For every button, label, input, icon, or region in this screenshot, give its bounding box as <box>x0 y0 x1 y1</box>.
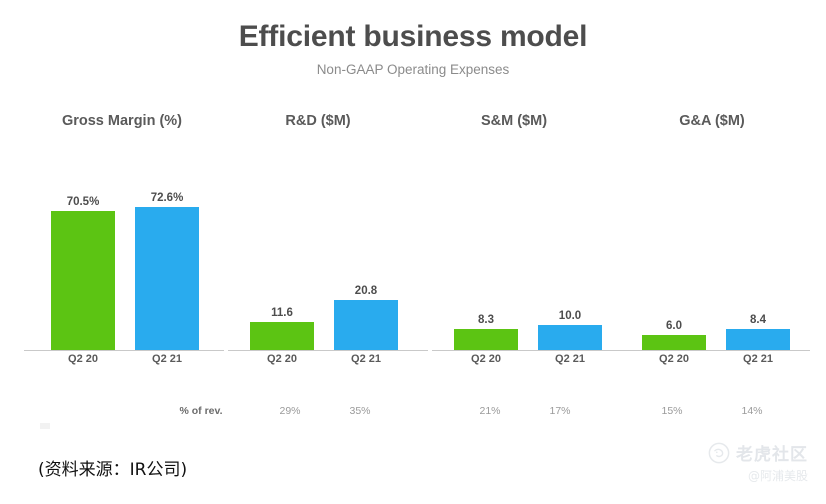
axis-baseline <box>24 350 224 351</box>
bar-value-label: 10.0 <box>518 310 622 322</box>
pct-of-revenue-gna-q2-21: 14% <box>720 405 784 417</box>
bar-value-label: 11.6 <box>230 307 334 319</box>
faint-artifact <box>40 423 50 429</box>
bar-slot-q2-21: 10.0 Q2 21 <box>538 325 602 350</box>
group-header-snm: S&M ($M) <box>404 113 624 129</box>
bar-category-label: Q2 21 <box>314 353 418 365</box>
bar-slot-q2-21: 20.8 Q2 21 <box>334 300 398 350</box>
pct-of-revenue-label: % of rev. <box>166 405 236 417</box>
axis-baseline <box>620 350 810 351</box>
slide-canvas: Efficient business model Non-GAAP Operat… <box>0 0 826 504</box>
page-subtitle: Non-GAAP Operating Expenses <box>0 62 826 77</box>
bar-gross-margin-q2-21[interactable] <box>135 207 199 350</box>
watermark-brand-text: 老虎社区 <box>736 440 808 465</box>
axis-baseline <box>432 350 622 351</box>
bar-value-label: 20.8 <box>314 285 418 297</box>
bar-value-label: 72.6% <box>115 192 219 204</box>
bar-value-label: 8.4 <box>706 314 810 326</box>
bar-slot-q2-21: 72.6% Q2 21 <box>135 207 199 350</box>
bar-snm-q2-20[interactable] <box>454 329 518 350</box>
pct-of-revenue-rnd-q2-21: 35% <box>328 405 392 417</box>
bar-slot-q2-20: 6.0 Q2 20 <box>642 335 706 350</box>
bar-slot-q2-21: 8.4 Q2 21 <box>726 329 790 350</box>
tiger-circle-icon <box>708 442 730 464</box>
chart-group-gna: 6.0 Q2 20 8.4 Q2 21 <box>620 150 810 365</box>
bar-gna-q2-20[interactable] <box>642 335 706 350</box>
watermark: 老虎社区 @阿浦美股 <box>708 440 808 484</box>
bar-category-label: Q2 21 <box>115 353 219 365</box>
group-header-gross-margin: Gross Margin (%) <box>12 113 232 129</box>
chart-group-rnd: 11.6 Q2 20 20.8 Q2 21 <box>228 150 428 365</box>
bar-gna-q2-21[interactable] <box>726 329 790 350</box>
bar-rnd-q2-21[interactable] <box>334 300 398 350</box>
bar-category-label: Q2 21 <box>518 353 622 365</box>
watermark-handle-text: @阿浦美股 <box>708 467 808 484</box>
source-note: (资料来源：IR公司) <box>38 455 187 480</box>
bar-slot-q2-20: 8.3 Q2 20 <box>454 329 518 350</box>
bar-gross-margin-q2-20[interactable] <box>51 211 115 350</box>
bar-slot-q2-20: 70.5% Q2 20 <box>51 211 115 350</box>
bar-slot-q2-20: 11.6 Q2 20 <box>250 322 314 350</box>
pct-of-revenue-snm-q2-21: 17% <box>528 405 592 417</box>
page-title: Efficient business model <box>0 20 826 54</box>
group-header-rnd: R&D ($M) <box>208 113 428 129</box>
chart-group-gross-margin: 70.5% Q2 20 72.6% Q2 21 <box>24 150 224 365</box>
pct-of-revenue-rnd-q2-20: 29% <box>258 405 322 417</box>
pct-of-revenue-snm-q2-20: 21% <box>458 405 522 417</box>
chart-group-snm: 8.3 Q2 20 10.0 Q2 21 <box>432 150 622 365</box>
bar-category-label: Q2 21 <box>706 353 810 365</box>
watermark-brand-row: 老虎社区 <box>708 440 808 465</box>
bar-rnd-q2-20[interactable] <box>250 322 314 350</box>
group-header-gna: G&A ($M) <box>602 113 822 129</box>
pct-of-revenue-gna-q2-20: 15% <box>640 405 704 417</box>
bar-snm-q2-21[interactable] <box>538 325 602 350</box>
axis-baseline <box>228 350 428 351</box>
